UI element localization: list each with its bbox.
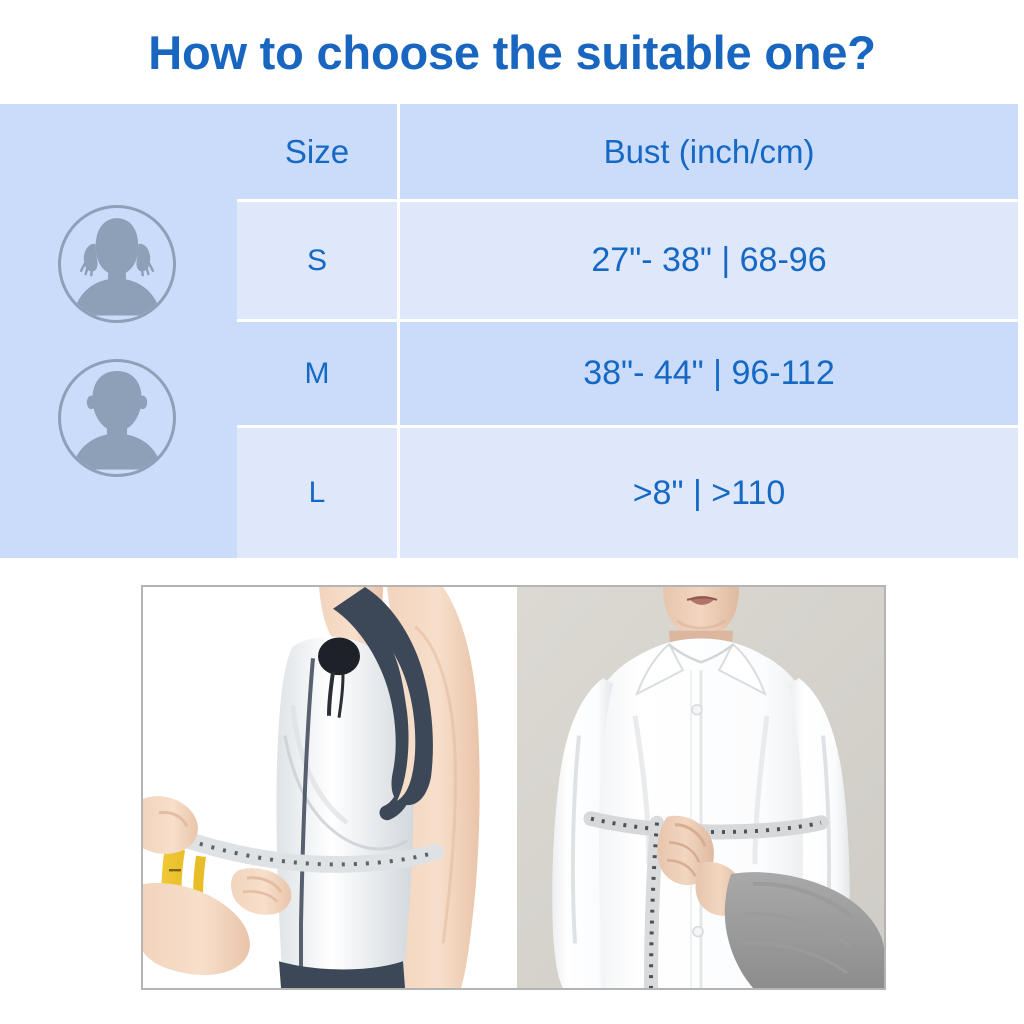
title-bar: How to choose the suitable one? <box>0 0 1024 104</box>
cell-bust-l: >8" | >110 <box>400 428 1018 558</box>
table-header-row: Size Bust (inch/cm) <box>237 104 1018 199</box>
female-avatar-icon <box>58 205 176 323</box>
header-bust: Bust (inch/cm) <box>400 104 1018 199</box>
cell-size-s: S <box>237 202 400 319</box>
header-size: Size <box>237 104 400 199</box>
woman-bust-measurement-photo <box>143 587 517 988</box>
man-chest-measurement-photo <box>517 587 884 988</box>
male-avatar-icon <box>58 359 176 477</box>
table-row: S 27"- 38" | 68-96 <box>237 199 1018 319</box>
avatar-column <box>0 104 237 558</box>
page-title: How to choose the suitable one? <box>148 25 876 80</box>
cell-bust-m: 38"- 44" | 96-112 <box>400 322 1018 425</box>
size-guide-page: How to choose the suitable one? <box>0 0 1024 1024</box>
cell-size-l: L <box>237 428 400 558</box>
size-chart-table: Size Bust (inch/cm) S 27"- 38" | 68-96 M… <box>0 104 1018 558</box>
table-rows: Size Bust (inch/cm) S 27"- 38" | 68-96 M… <box>237 104 1018 558</box>
measurement-photo-strip <box>141 585 886 990</box>
cell-bust-s: 27"- 38" | 68-96 <box>400 202 1018 319</box>
cell-size-m: M <box>237 322 400 425</box>
table-row: M 38"- 44" | 96-112 <box>237 319 1018 425</box>
table-row: L >8" | >110 <box>237 425 1018 558</box>
